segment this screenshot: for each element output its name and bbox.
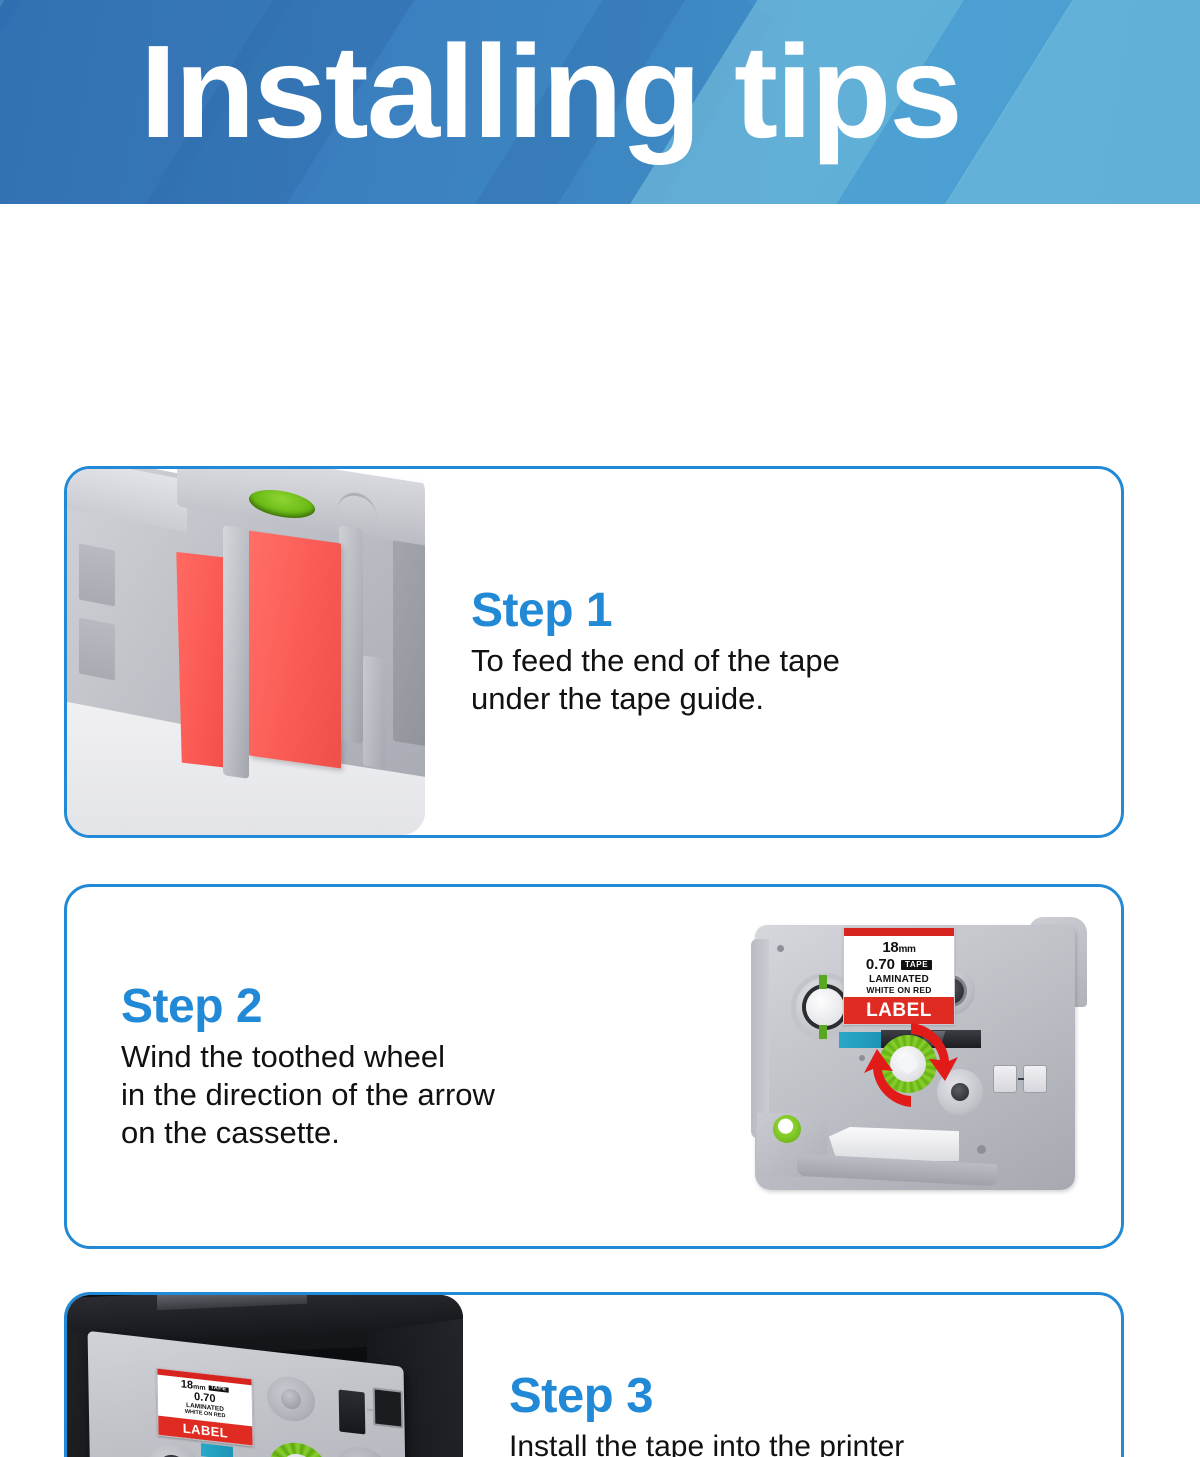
step-1-title: Step 1 — [471, 586, 1087, 636]
step-2-body: Wind the toothed wheel in the direction … — [121, 1038, 691, 1151]
banner-stripe-2 — [0, 0, 61, 204]
step-3-title: Step 3 — [509, 1371, 1087, 1422]
step-2-text-block: Step 2 Wind the toothed wheel in the dir… — [67, 982, 711, 1152]
photo-cassette-wind-toothed-wheel: 18mm 0.70 TAPE LAMINATED WHITE ON RED LA… — [711, 887, 1121, 1246]
page-title: Installing tips — [140, 26, 961, 158]
installed-label-brand-word: LABEL — [183, 1420, 229, 1440]
step-3-text-block: Step 3 Install the tape into the printer… — [463, 1371, 1121, 1457]
step-3-body: Install the tape into the printer and pu… — [509, 1429, 1087, 1457]
photo-cassette-tape-end-under-guide — [67, 469, 425, 835]
step-card-2: 18mm 0.70 TAPE LAMINATED WHITE ON RED LA… — [64, 884, 1124, 1249]
label-laminated: LAMINATED — [849, 975, 949, 986]
label-width-mm: 18 — [882, 939, 898, 956]
label-width-inch: 0.70 — [866, 957, 895, 973]
installed-label-width-mm: 18 — [181, 1378, 193, 1391]
step-card-3: 18mm TAPE 0.70 LAMINATED WHITE ON RED LA… — [64, 1292, 1124, 1457]
page-header-banner: Installing tips — [0, 0, 1200, 204]
label-red-top-bar — [844, 928, 954, 936]
label-color-spec: WHITE ON RED — [849, 986, 949, 995]
step-2-title: Step 2 — [121, 982, 691, 1032]
photo-cassette-installed-in-printer: 18mm TAPE 0.70 LAMINATED WHITE ON RED LA… — [67, 1295, 463, 1457]
cassette-label-sticker: 18mm 0.70 TAPE LAMINATED WHITE ON RED LA… — [843, 927, 955, 1025]
label-tape-badge: TAPE — [901, 960, 932, 970]
step-1-body: To feed the end of the tape under the ta… — [471, 642, 1087, 718]
step-1-text-block: Step 1 To feed the end of the tape under… — [425, 586, 1121, 718]
label-mm-unit: mm — [898, 944, 915, 955]
step-card-1: Step 1 To feed the end of the tape under… — [64, 466, 1124, 838]
cassette-label-sticker-installed: 18mm TAPE 0.70 LAMINATED WHITE ON RED LA… — [156, 1367, 253, 1446]
